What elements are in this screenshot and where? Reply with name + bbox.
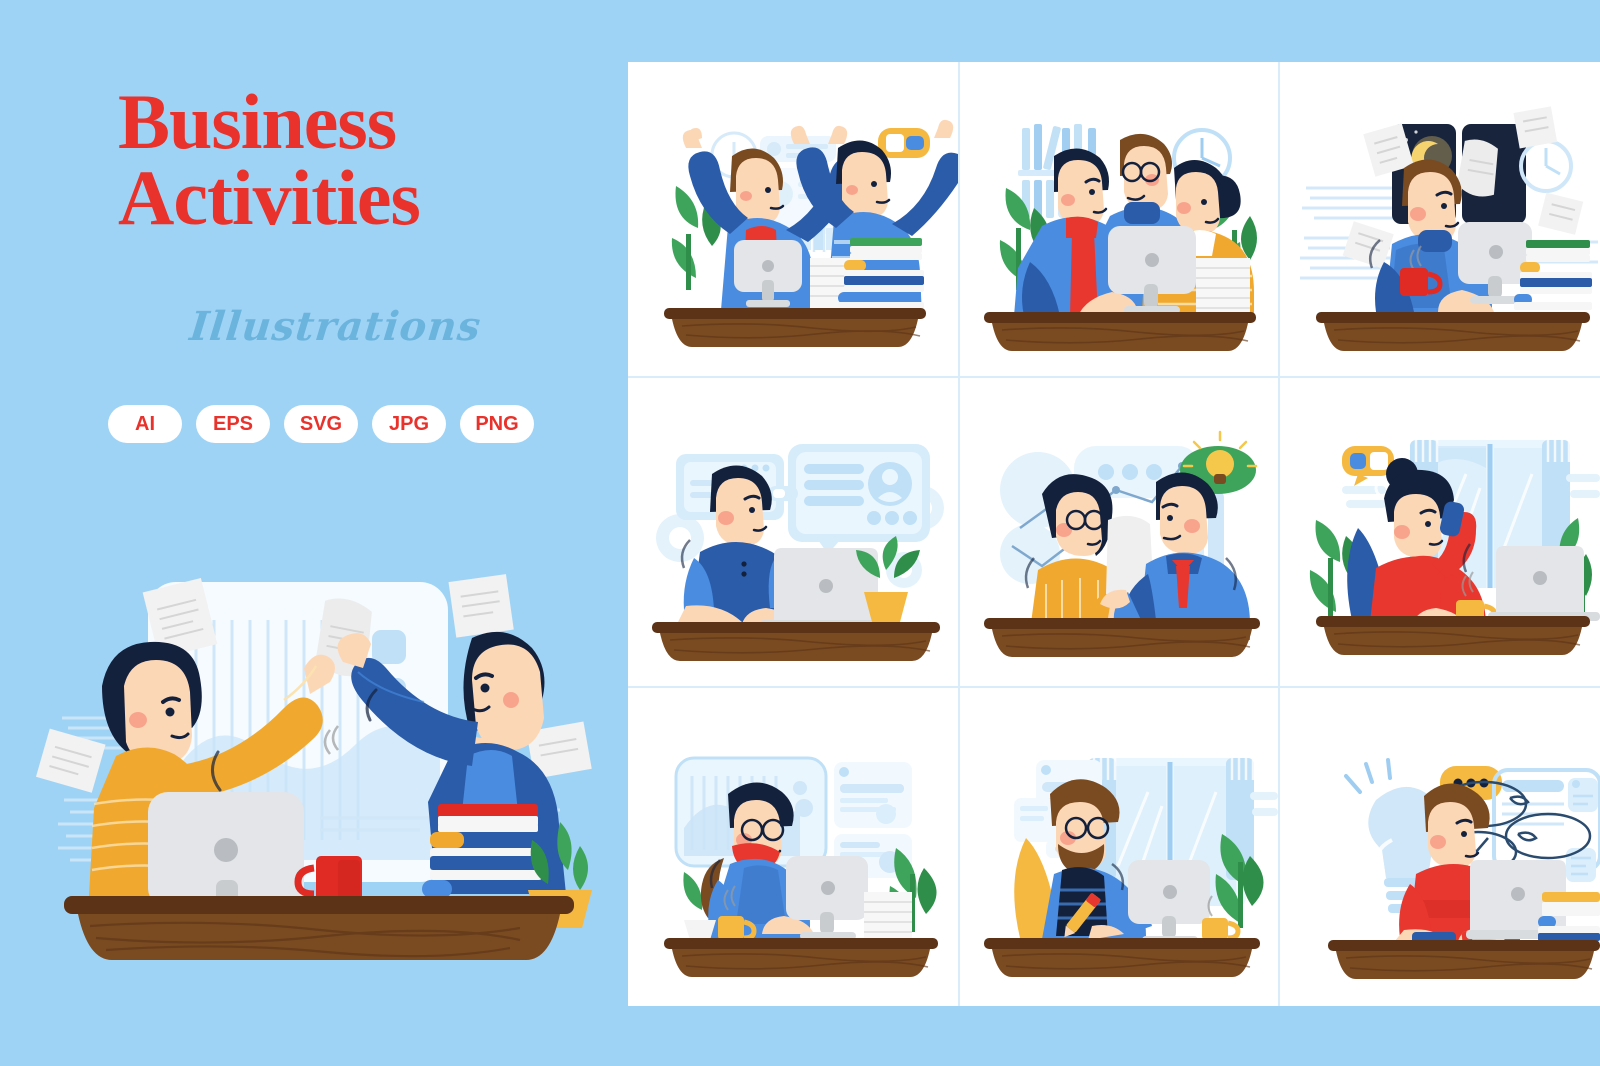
wooden-desk bbox=[1328, 940, 1600, 979]
task-planning-illustration bbox=[960, 688, 1278, 1006]
format-badge-ai[interactable]: AI bbox=[108, 405, 182, 443]
grid-cell-team-collaboration[interactable]: Three colleagues working together around… bbox=[960, 62, 1278, 376]
format-badge-eps[interactable]: EPS bbox=[196, 405, 270, 443]
wooden-desk bbox=[1316, 312, 1590, 351]
toggle-switch bbox=[768, 486, 798, 501]
grid-cell-business-phone-call[interactable]: Woman taking a phone call with coffee be… bbox=[1280, 378, 1600, 686]
format-badge-svg[interactable]: SVG bbox=[284, 405, 358, 443]
page-title: Business Activities bbox=[118, 84, 538, 235]
hero-illustration bbox=[20, 560, 610, 960]
grid-cell-user-profile-management[interactable]: Man at laptop with user profile card int… bbox=[628, 378, 958, 686]
user-profile-illustration bbox=[628, 378, 958, 686]
wooden-desk bbox=[984, 618, 1260, 657]
analytics-work-illustration bbox=[628, 688, 958, 1006]
phone-call-illustration bbox=[1280, 378, 1600, 686]
working-late-illustration bbox=[1280, 62, 1600, 376]
team-collaboration-illustration bbox=[960, 62, 1278, 376]
grid-cell-celebrating-success[interactable]: Two men celebrating with raised arms at … bbox=[628, 62, 958, 376]
wooden-desk bbox=[652, 622, 940, 661]
wooden-desk bbox=[984, 938, 1260, 977]
grid-cell-data-analytics-work[interactable]: Man with glasses and red scarf reviewing… bbox=[628, 688, 958, 1006]
grid-cell-brainstorming-mind-map[interactable]: Man brainstorming at a laptop with mind-… bbox=[1280, 688, 1600, 1006]
page-title-line2: Activities bbox=[118, 160, 538, 236]
format-badge-jpg[interactable]: JPG bbox=[372, 405, 446, 443]
wooden-desk bbox=[64, 896, 574, 960]
grid-cell-task-planning[interactable]: Bearded man holding a pencil at his desk… bbox=[960, 688, 1278, 1006]
grid-cell-working-late-at-night[interactable]: Man working at night, dark window with m… bbox=[1280, 62, 1600, 376]
idea-discussion-illustration bbox=[960, 378, 1278, 686]
wooden-desk bbox=[664, 938, 938, 977]
wall-clock bbox=[1521, 141, 1571, 191]
brainstorming-illustration bbox=[1280, 688, 1600, 1006]
illustration-grid: Two men celebrating with raised arms at … bbox=[628, 62, 1600, 1006]
wooden-desk bbox=[1316, 616, 1590, 655]
book-stack bbox=[1538, 892, 1600, 941]
grid-cell-business-idea-discussion[interactable]: Woman and man discussing a document with… bbox=[960, 378, 1278, 686]
chat-bubble bbox=[878, 128, 930, 158]
celebrating-success-illustration bbox=[628, 62, 958, 376]
format-badge-png[interactable]: PNG bbox=[460, 405, 534, 443]
wooden-desk bbox=[984, 312, 1256, 351]
profile-card-panel bbox=[788, 444, 930, 554]
page-subtitle: Illustrations bbox=[188, 303, 484, 350]
paper-stack bbox=[864, 892, 912, 940]
wooden-desk bbox=[664, 308, 926, 347]
paper-stack bbox=[1196, 258, 1250, 314]
hero-illustration-svg bbox=[20, 560, 610, 960]
laptop bbox=[1488, 546, 1600, 621]
page-title-line1: Business bbox=[118, 84, 538, 160]
format-badge-list: AI EPS SVG JPG PNG bbox=[108, 405, 534, 443]
poster-canvas: Business Activities Illustrations AI EPS… bbox=[0, 0, 1600, 1066]
left-title-panel: Business Activities Illustrations AI EPS… bbox=[0, 0, 628, 1066]
